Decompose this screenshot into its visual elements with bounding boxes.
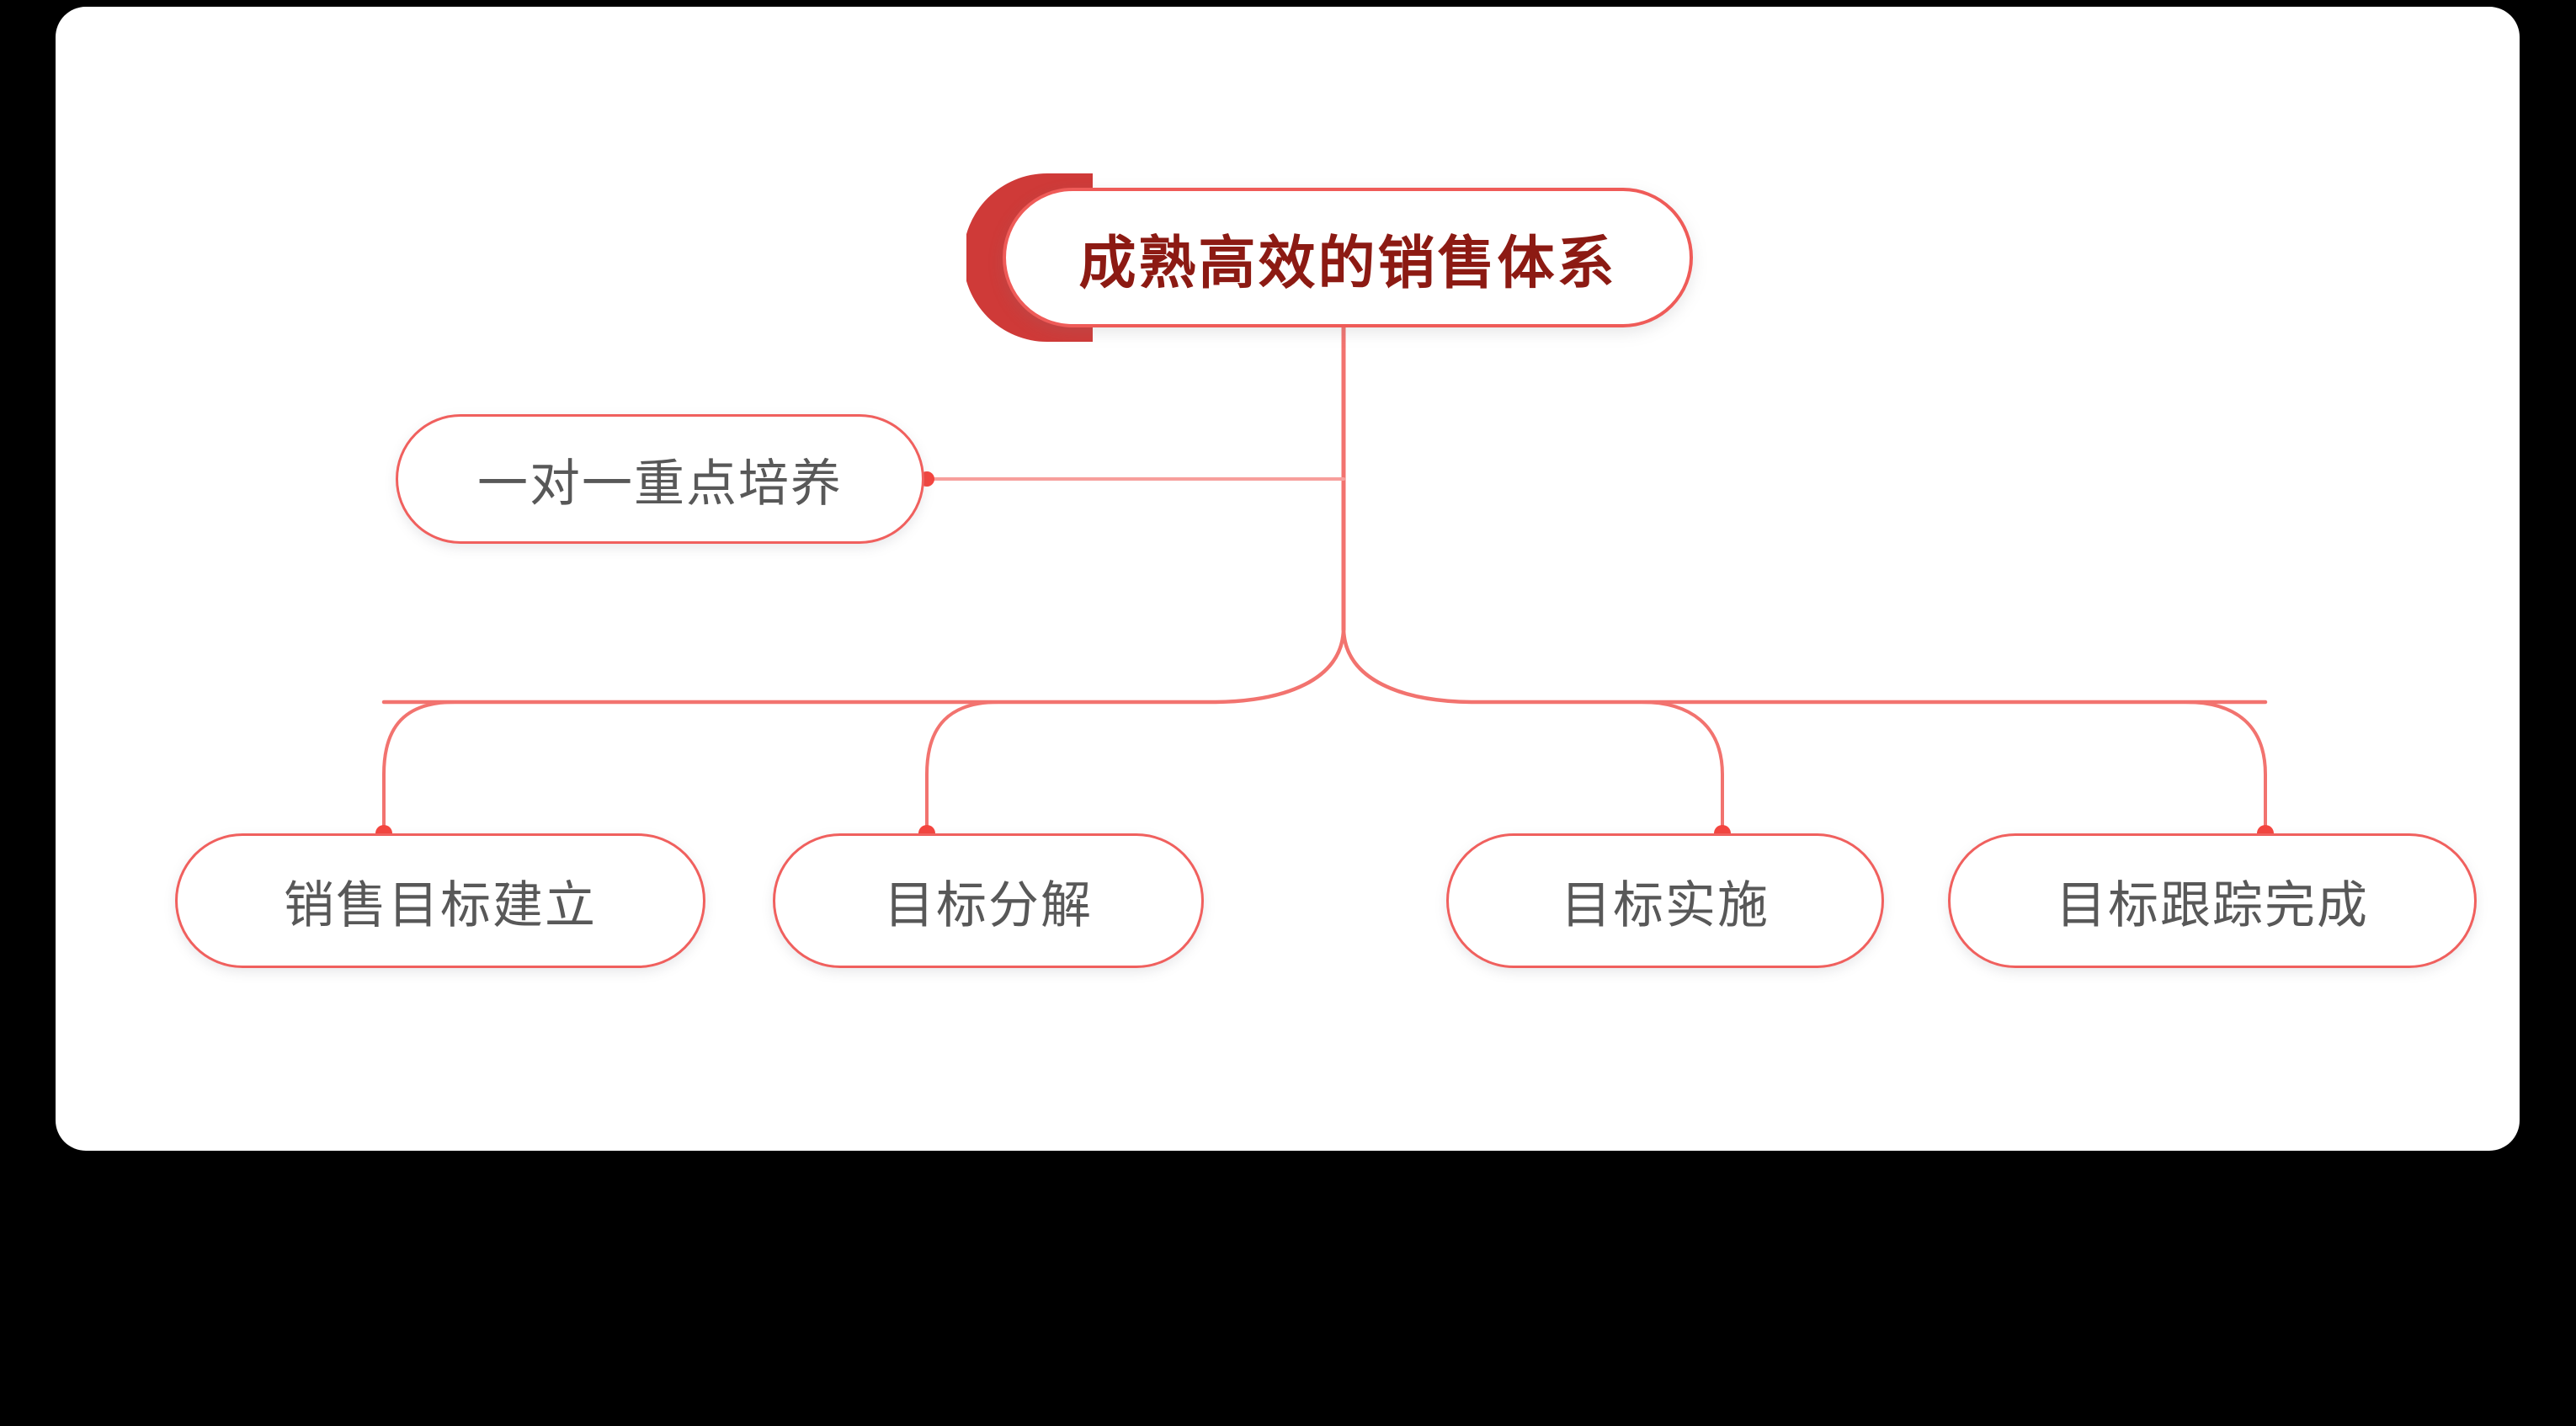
branch-node-goal-exec[interactable]: 目标实施 [1446,833,1884,968]
connector-layer [56,7,2520,1151]
branch-node-focus[interactable]: 一对一重点培养 [396,414,924,544]
connector-fork-right [1344,630,2265,702]
connector-drop-goal-exec [1642,702,1722,833]
connector-fork-left [384,630,1344,702]
connector-drop-goal-split [927,702,998,833]
branch-node-goal-split[interactable]: 目标分解 [773,833,1204,968]
connector-drop-goal-track [2185,702,2265,833]
root-node[interactable]: 成熟高效的销售体系 [1003,188,1693,327]
connector-drop-goal-set [384,702,455,833]
diagram-canvas: 成熟高效的销售体系 一对一重点培养 销售目标建立 目标分解 目标实施 目标跟踪完… [56,7,2520,1151]
branch-node-goal-track[interactable]: 目标跟踪完成 [1948,833,2477,968]
branch-node-goal-set[interactable]: 销售目标建立 [175,833,705,968]
